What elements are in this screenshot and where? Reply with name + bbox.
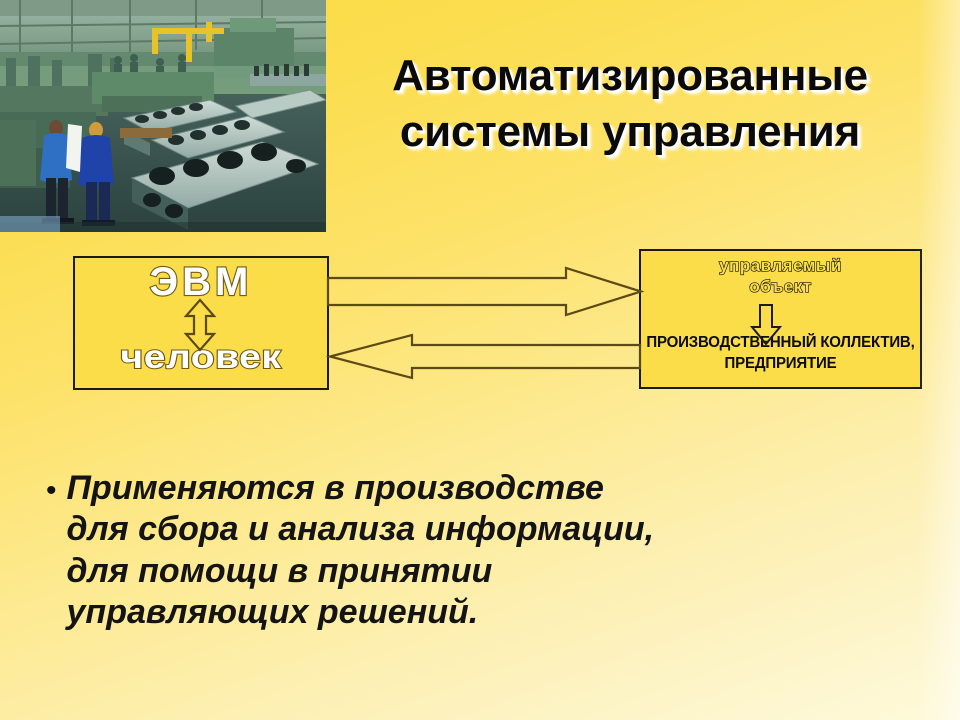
arrow-right-control: [328, 268, 641, 315]
arrow-left-feedback: [330, 335, 640, 378]
double-arrow-up-down-icon: [186, 300, 214, 350]
slide-title: Автоматизированные системы управления: [330, 48, 930, 161]
body-bullet-item: • Применяются в производстве для сбора и…: [46, 468, 926, 634]
bullet-marker: •: [46, 476, 57, 506]
presentation-slide: Автоматизированные системы управления ЭВ…: [0, 0, 960, 720]
body-text: Применяются в производстве для сбора и а…: [67, 468, 667, 634]
arrow-down-icon: [752, 305, 780, 344]
